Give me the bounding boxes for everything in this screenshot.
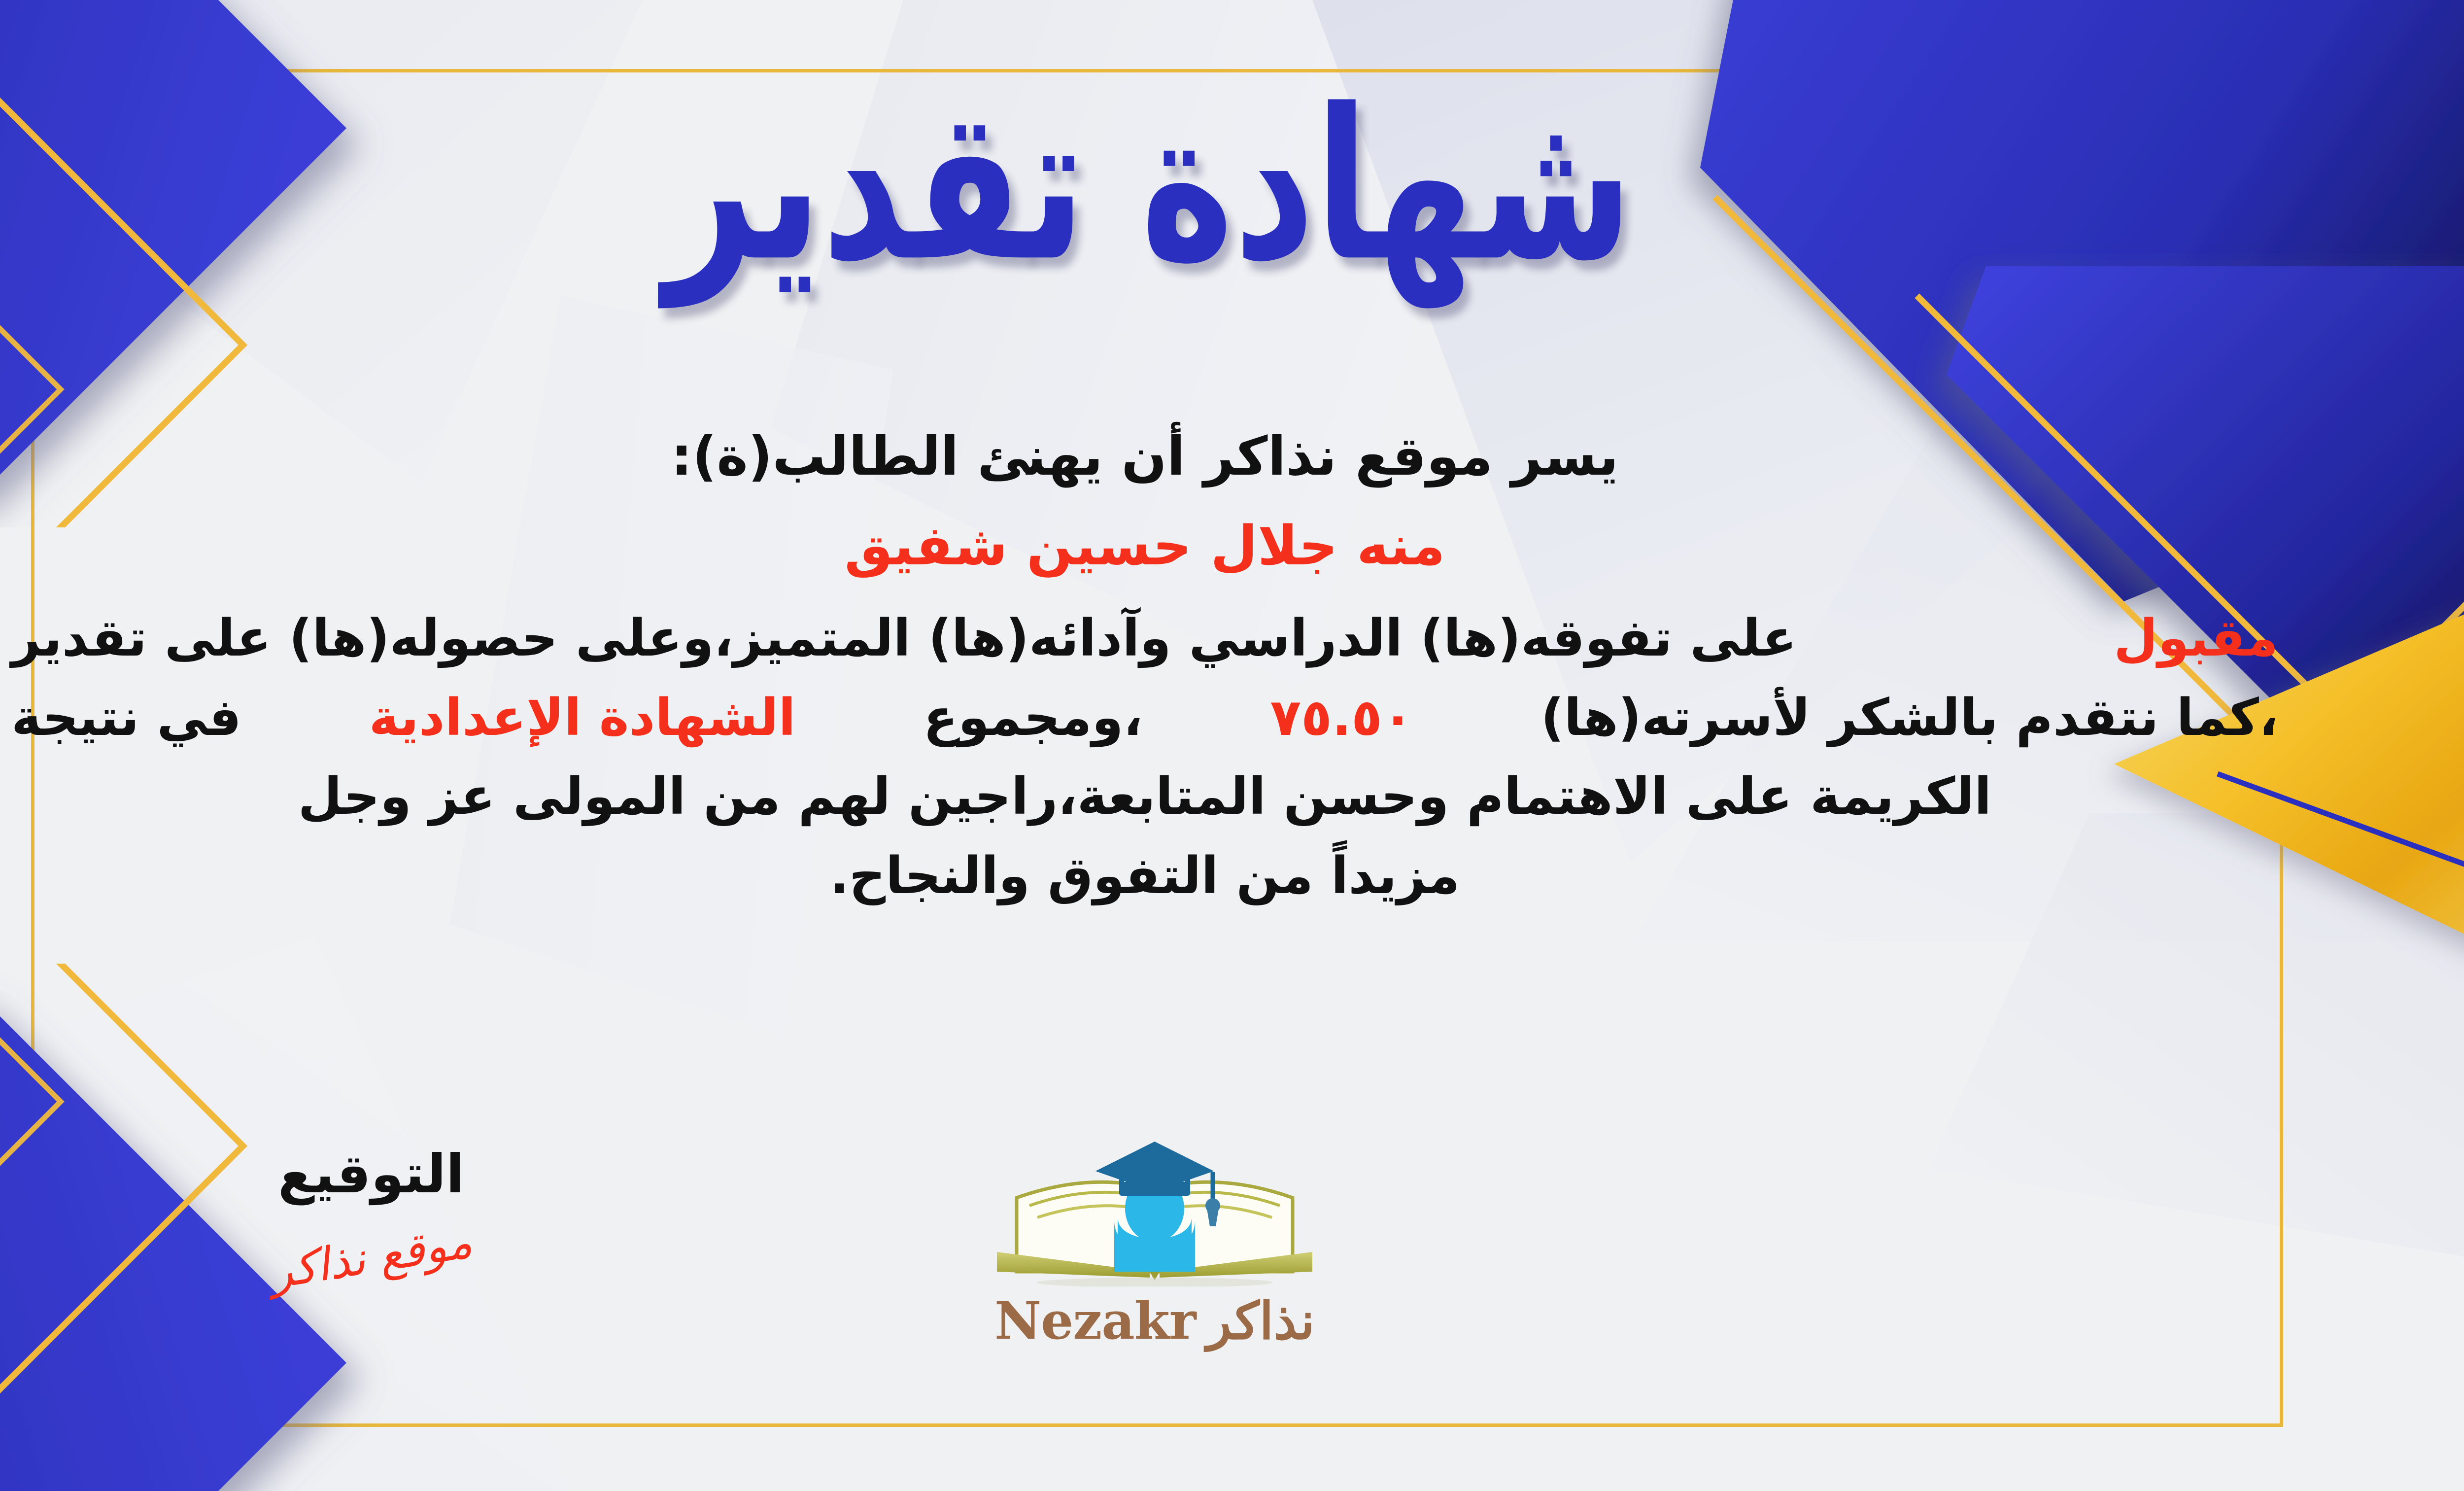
title-area: شهادة تقدير [0, 76, 2464, 247]
paragraph-line-3: الكريمة على الاهتمام وحسن المتابعة،راجين… [11, 757, 2278, 836]
result-label: في نتيجة [11, 678, 241, 758]
graduate-and-book-icon [982, 1124, 1327, 1286]
intro-text: يسر موقع نذاكر أن يهنئ الطالب(ة): [11, 414, 2278, 500]
signature-label: التوقيع [218, 1144, 524, 1205]
paragraph-line-1: مقبول على تفوقه(ها) الدراسي وآدائه(ها) ا… [11, 599, 2278, 678]
certificate-body: يسر موقع نذاكر أن يهنئ الطالب(ة): منه جل… [11, 414, 2278, 916]
logo-wordmark-ar: نذاكر [1207, 1290, 1315, 1351]
student-name: منه جلال حسين شفيق [11, 514, 2278, 577]
logo-mark [982, 1124, 1327, 1286]
certificate-page: شهادة تقدير يسر موقع نذاكر أن يهنئ الطال… [0, 0, 2464, 1491]
grade-value: مقبول [2114, 599, 2278, 678]
signature-block: التوقيع موقع نذاكر [218, 1144, 524, 1283]
logo-wordmark-en: Nezakr [994, 1290, 1196, 1351]
page-title: شهادة تقدير [665, 76, 1634, 295]
paragraph-line-4: مزيداً من التفوق والنجاح. [11, 836, 2278, 916]
appreciation-paragraph: مقبول على تفوقه(ها) الدراسي وآدائه(ها) ا… [11, 599, 2278, 916]
total-label: ،ومجموع [923, 678, 1142, 758]
thanks-text: ،كما نتقدم بالشكر لأسرته(ها) [1541, 678, 2278, 758]
signature-mark: موقع نذاكر [267, 1215, 476, 1299]
site-logo: نذاكرNezakr [967, 1124, 1342, 1351]
paragraph-line-2: ،كما نتقدم بالشكر لأسرته(ها) ٧٥.٥٠ ،ومجم… [11, 678, 2278, 758]
certificate-name-value: الشهادة الإعدادية [369, 678, 796, 758]
paragraph-line-1-text: على تفوقه(ها) الدراسي وآدائه(ها) المتميز… [11, 599, 1797, 678]
logo-wordmark: نذاكرNezakr [967, 1290, 1342, 1351]
total-score-value: ٧٥.٥٠ [1270, 678, 1413, 758]
